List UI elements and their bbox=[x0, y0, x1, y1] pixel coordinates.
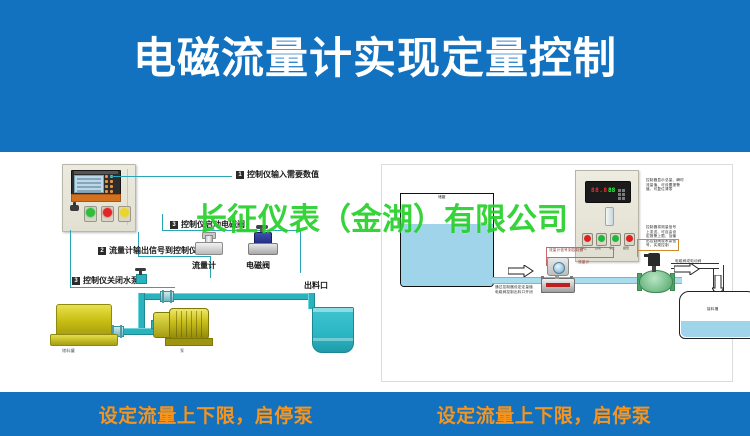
left-process-diagram: 1控制仪输入需要数值 3控制仪启动电磁阀 2流量计输出信号到控制仪 3控制仪关闭… bbox=[40, 152, 380, 390]
storage-tank bbox=[50, 304, 116, 346]
page-root: 电磁流量计实现定量控制 长征仪表（金湖）有限公司 bbox=[0, 0, 750, 436]
footer-caption-left-bar: 设定流量上下限，启停泵 bbox=[50, 392, 362, 436]
pump-caption: 泵 bbox=[180, 348, 184, 354]
fieldnote-control: 通过控制器设定定量值 电磁阀控制出料口开闭 bbox=[495, 285, 533, 294]
cabinet-button-start[interactable] bbox=[596, 233, 607, 246]
cabinet-handle[interactable] bbox=[605, 207, 614, 226]
fieldnote-valve: 电磁阀或电动阀 bbox=[675, 259, 702, 264]
header-banner: 电磁流量计实现定量控制 bbox=[0, 0, 750, 152]
solenoid-valve-label: 电磁阀 bbox=[246, 260, 270, 271]
callout-line-4-h bbox=[70, 287, 175, 288]
right-valve-stem bbox=[652, 265, 656, 272]
discharge-vessel bbox=[312, 307, 354, 353]
footer-divider bbox=[362, 392, 388, 436]
right-cabinet-display: 88.8 88 bbox=[585, 181, 631, 203]
footer-edge-left bbox=[0, 392, 50, 436]
display-keys-icon[interactable] bbox=[618, 188, 627, 198]
footer-area: 设定流量上下限，启停泵 设定流量上下限，启停泵 bbox=[0, 392, 750, 436]
discharge-vessel-band bbox=[313, 338, 353, 341]
fieldnote-line-valve bbox=[637, 249, 638, 257]
receiving-vessel-liquid bbox=[681, 321, 750, 337]
flow-arrow-1 bbox=[508, 265, 534, 277]
cabinet-note-top: 控制器显示总量、瞬时 流量值、可设置报警 值、可复位清零 bbox=[646, 178, 684, 192]
annotation-4-num: 3 bbox=[72, 277, 80, 285]
discharge-port-label: 出料口 bbox=[304, 280, 328, 291]
fieldnote-box-valve bbox=[637, 239, 679, 251]
annotation-4-text: 控制仪关闭水泵 bbox=[83, 276, 139, 285]
pump-motor bbox=[169, 308, 209, 340]
cabinet-switch-knob[interactable] bbox=[70, 205, 79, 211]
annotation-2-text: 流量计输出信号到控制仪 bbox=[109, 246, 197, 255]
storage-tank-caption: 储料罐 bbox=[62, 348, 75, 354]
right-valve-actuator bbox=[648, 253, 660, 266]
indicator-lamp-green[interactable] bbox=[84, 206, 97, 222]
content-area: 长征仪表（金湖）有限公司 bbox=[0, 152, 750, 392]
fieldnote-meter-signal: 流量计信号到控制器 bbox=[549, 248, 583, 253]
footer-edge-right bbox=[700, 392, 750, 436]
display-total-value: 88.8 bbox=[591, 187, 607, 194]
footer-caption-left: 设定流量上下限，启停泵 bbox=[99, 401, 314, 428]
annotation-2-num: 2 bbox=[98, 247, 106, 255]
flow-meter-body bbox=[195, 242, 223, 255]
cabinet-button-stop[interactable] bbox=[582, 233, 593, 246]
water-pump bbox=[153, 304, 215, 346]
flow-arrow-2 bbox=[674, 263, 700, 275]
control-cabinet[interactable] bbox=[62, 164, 136, 232]
callout-line-4-v bbox=[70, 230, 71, 287]
solenoid-valve-base bbox=[248, 243, 278, 255]
receiving-vessel-label: 接料槽 bbox=[707, 307, 718, 312]
flow-meter-label: 流量计 bbox=[192, 260, 216, 271]
right-fm-head bbox=[547, 257, 569, 276]
cabinet-orange-strip bbox=[71, 194, 121, 202]
manual-valve[interactable] bbox=[133, 270, 148, 282]
controller-screen bbox=[71, 170, 121, 196]
pump-foot bbox=[165, 338, 213, 346]
callout-line-1 bbox=[110, 176, 232, 177]
footer-caption-right-bar: 设定流量上下限，启停泵 bbox=[388, 392, 700, 436]
annotation-2: 2流量计输出信号到控制仪 bbox=[98, 246, 197, 256]
cabinet-button-label-4: 报警 bbox=[623, 246, 629, 250]
lcd-display bbox=[74, 175, 104, 193]
right-valve-body bbox=[639, 270, 673, 293]
discharge-vessel-rim bbox=[313, 308, 353, 312]
display-flow-value: 88 bbox=[608, 187, 615, 194]
right-fm-dial bbox=[553, 262, 565, 274]
page-title: 电磁流量计实现定量控制 bbox=[0, 32, 750, 86]
callout-line-3-stub bbox=[162, 214, 163, 230]
right-control-valve[interactable] bbox=[639, 253, 671, 293]
company-watermark: 长征仪表（金湖）有限公司 bbox=[196, 194, 568, 239]
cabinet-button-run[interactable] bbox=[610, 233, 621, 246]
footer-caption-right: 设定流量上下限，启停泵 bbox=[437, 401, 652, 428]
annotation-1-text: 控制仪输入需要数值 bbox=[247, 170, 319, 179]
annotation-4: 3控制仪关闭水泵 bbox=[72, 276, 139, 286]
annotation-3-num: 3 bbox=[170, 221, 178, 229]
callout-line-2 bbox=[138, 256, 210, 257]
right-fm-tube bbox=[541, 278, 575, 293]
fieldnote-line-meter bbox=[546, 256, 547, 266]
storage-tank-base bbox=[50, 334, 118, 346]
annotation-1: 1控制仪输入需要数值 bbox=[236, 170, 319, 180]
annotation-1-num: 1 bbox=[236, 171, 244, 179]
indicator-lamp-yellow[interactable] bbox=[118, 206, 131, 222]
pipe-riser bbox=[138, 293, 145, 331]
fieldnote-meter-tag: 流量计 bbox=[578, 260, 589, 265]
indicator-lamp-red[interactable] bbox=[101, 206, 114, 222]
pipe-flange-1 bbox=[160, 291, 174, 302]
cabinet-button-alarm[interactable] bbox=[624, 233, 635, 246]
receiving-vessel bbox=[679, 291, 750, 339]
